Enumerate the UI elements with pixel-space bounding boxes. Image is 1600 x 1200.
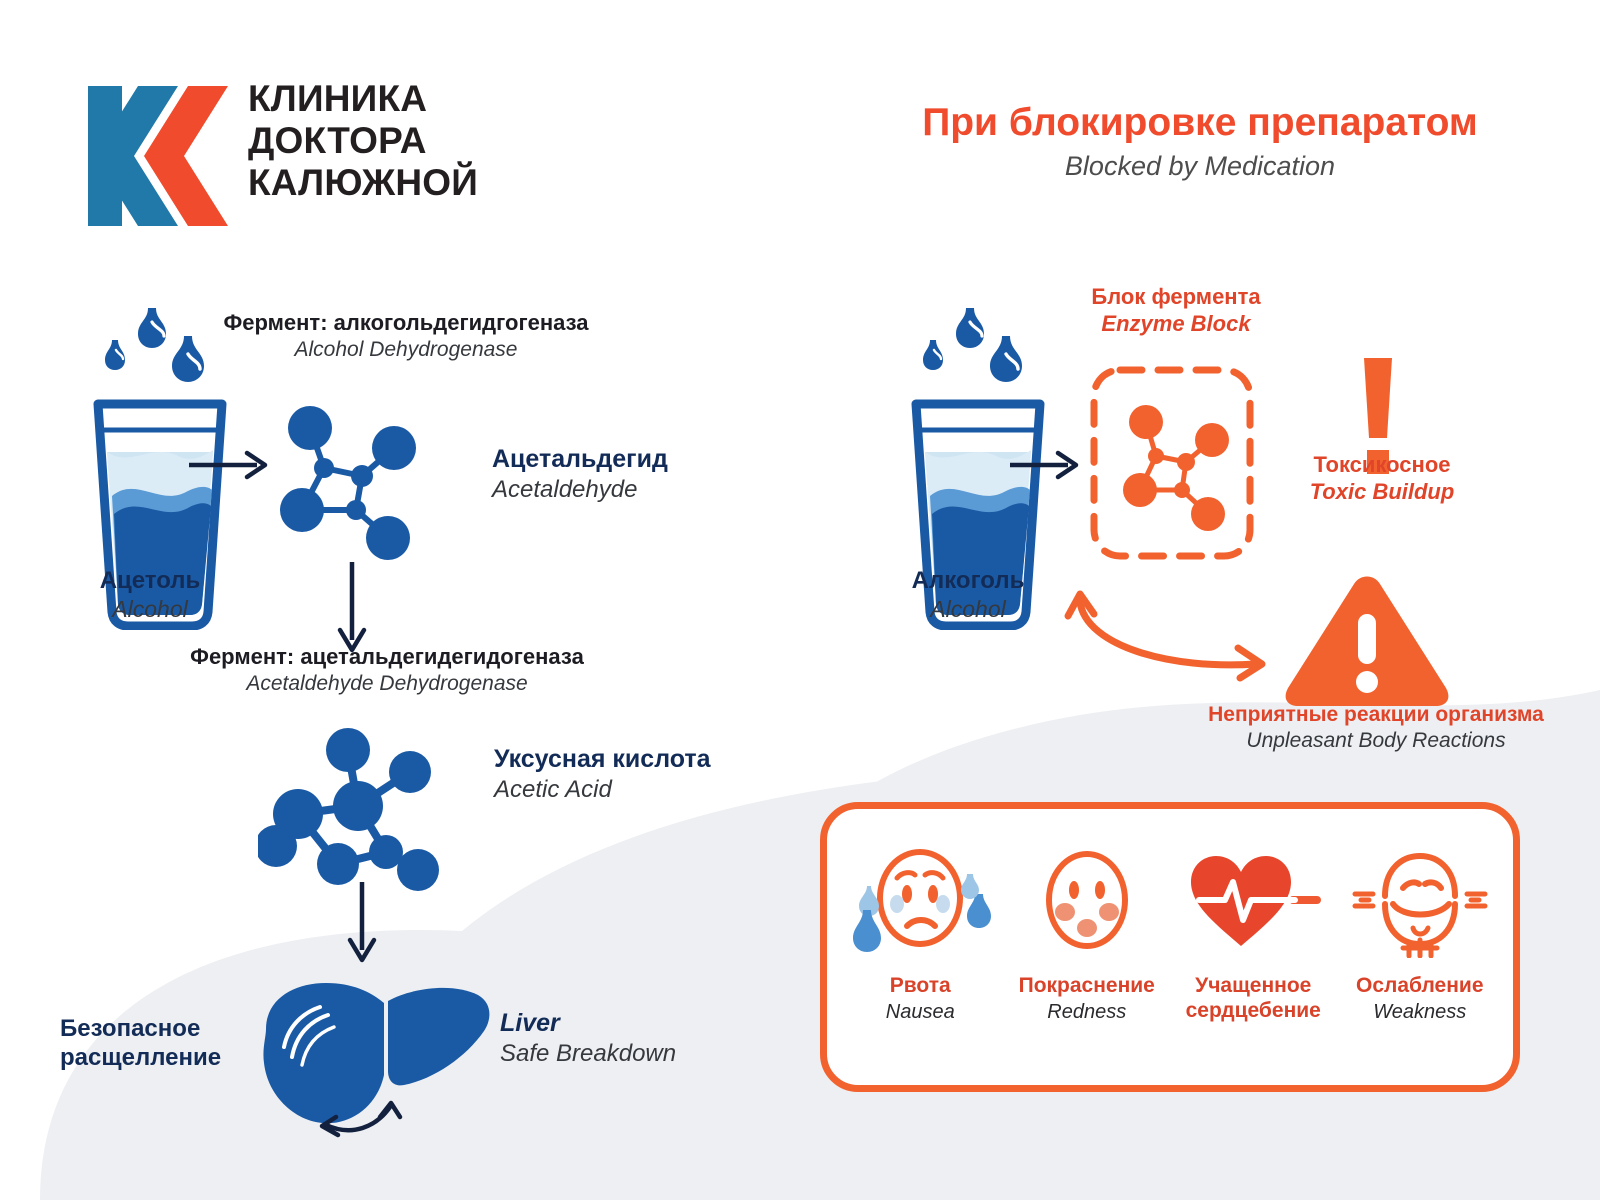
symptom-item-redness: Покраснение Redness — [1004, 837, 1171, 1025]
symptom-item-heartbeat: Учащенное сердцебение — [1170, 837, 1337, 1025]
header-title-ru: При блокировке препаратом — [840, 100, 1560, 146]
logo-line-1: КЛИНИКА — [248, 78, 578, 120]
blocked-molecule-icon — [1112, 398, 1236, 538]
label-unpleasant-reactions-en: Unpleasant Body Reactions — [1176, 728, 1576, 754]
symptom-item-weakness: Ослабление Weakness — [1337, 837, 1504, 1025]
label-acetic-acid-ru: Уксусная кислота — [494, 744, 774, 775]
brand-logo: КЛИНИКА ДОКТОРА КАЛЮЖНОЙ — [82, 78, 552, 238]
label-safe-breakdown-ru: Безопасное расщелление — [60, 1014, 250, 1073]
label-unpleasant-reactions-ru: Неприятные реакции организма — [1176, 702, 1576, 728]
label-liver-en: Safe Breakdown — [500, 1039, 740, 1068]
label-acetic-acid: Уксусная кислота Acetic Acid — [494, 744, 774, 804]
label-enzyme-1-ru: Фермент: алкогольдегидгогеназа — [196, 310, 616, 337]
sweating-sad-face-icon — [845, 837, 995, 963]
symptoms-card: Рвота Nausea Покраснение Redness — [820, 802, 1520, 1092]
arrow-down-2 — [340, 880, 384, 970]
label-liver: Liver Safe Breakdown — [500, 1008, 740, 1068]
symptom-item-nausea: Рвота Nausea — [837, 837, 1004, 1025]
weak-face-icon — [1345, 837, 1495, 963]
logo-line-3: КАЛЮЖНОЙ — [248, 162, 578, 204]
label-acetaldehyde-ru: Ацетальдегид — [492, 444, 772, 475]
heartbeat-icon — [1183, 837, 1323, 963]
warning-triangle-icon — [1278, 570, 1456, 710]
acetaldehyde-molecule-icon — [262, 398, 432, 563]
section-header: При блокировке препаратом Blocked by Med… — [840, 100, 1560, 183]
curved-double-arrow — [1060, 572, 1280, 682]
symptom-label-en: Nausea — [886, 1000, 955, 1025]
label-toxic-buildup-ru: Токсикосное — [1282, 452, 1482, 479]
arrow-right-2 — [1006, 440, 1086, 490]
label-unpleasant-reactions: Неприятные реакции организма Unpleasant … — [1176, 702, 1576, 753]
kk-logo-mark — [82, 82, 232, 230]
label-enzyme-1-en: Alcohol Dehydrogenase — [196, 337, 616, 363]
label-alcohol-left-en: Alcohol — [40, 595, 260, 623]
label-alcohol-left-ru: Ацетоль — [40, 566, 260, 595]
label-enzyme-2-ru: Фермент: ацетальдегидегидогеназа — [172, 644, 602, 671]
acetic-acid-molecule-icon — [258, 718, 448, 898]
label-enzyme-2: Фермент: ацетальдегидегидогеназа Acetald… — [172, 644, 602, 696]
logo-line-2: ДОКТОРА — [248, 120, 578, 162]
label-enzyme-block-en: Enzyme Block — [1026, 311, 1326, 338]
label-enzyme-1: Фермент: алкогольдегидгогеназа Alcohol D… — [196, 310, 616, 362]
label-toxic-buildup-en: Toxic Buildup — [1282, 479, 1482, 506]
label-alcohol-right-en: Alcohol — [858, 595, 1078, 623]
label-acetaldehyde: Ацетальдегид Acetaldehyde — [492, 444, 772, 504]
label-acetic-acid-en: Acetic Acid — [494, 775, 774, 804]
label-alcohol-left: Ацетоль Alcohol — [40, 566, 260, 623]
symptom-label-ru: Рвота — [886, 973, 955, 998]
flushed-face-icon — [1027, 837, 1147, 963]
symptom-label-ru: Ослабление — [1356, 973, 1484, 998]
label-alcohol-right-ru: Алкоголь — [858, 566, 1078, 595]
label-enzyme-block-ru: Блок фермента — [1026, 284, 1326, 311]
symptom-label-en: Weakness — [1356, 1000, 1484, 1025]
label-enzyme-2-en: Acetaldehyde Dehydrogenase — [172, 671, 602, 697]
label-acetaldehyde-en: Acetaldehyde — [492, 475, 772, 504]
symptom-label-ru: Покраснение — [1019, 973, 1155, 998]
label-safe-breakdown-text: Безопасное расщелление — [60, 1014, 250, 1073]
symptom-label-en: Redness — [1019, 1000, 1155, 1025]
label-enzyme-block: Блок фермента Enzyme Block — [1026, 284, 1326, 338]
header-title-en: Blocked by Medication — [840, 149, 1560, 183]
liver-icon — [248, 975, 498, 1140]
label-alcohol-right: Алкоголь Alcohol — [858, 566, 1078, 623]
label-liver-ru: Liver — [500, 1008, 740, 1039]
symptom-label-ru: Учащенное сердцебение — [1170, 973, 1337, 1023]
label-toxic-buildup: Токсикосное Toxic Buildup — [1282, 452, 1482, 506]
